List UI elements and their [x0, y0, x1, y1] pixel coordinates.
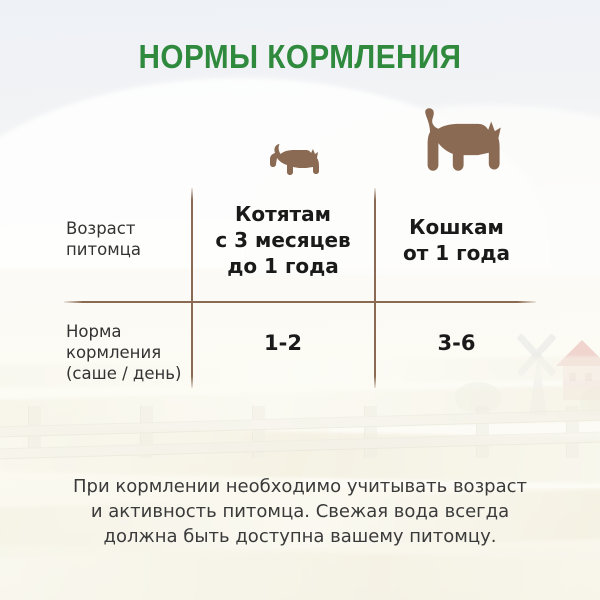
table-column-divider: [374, 188, 376, 388]
table-header-kitten: Котятам с 3 месяцев до 1 года: [194, 201, 372, 279]
header-line: Кошкам: [377, 214, 536, 240]
fence-post: [140, 406, 153, 458]
header-line: от 1 года: [377, 240, 536, 266]
adult-cat-silhouette-icon: [412, 107, 502, 184]
page-title: НОРМЫ КОРМЛЕНИЯ: [30, 38, 570, 76]
feeding-norms-poster: НОРМЫ КОРМЛЕНИЯ Возраст питомца Котятам …: [0, 0, 600, 600]
fence-post: [566, 406, 579, 458]
kitten-silhouette-icon: [263, 143, 321, 183]
row-label-line: питомца: [66, 239, 186, 260]
header-line: до 1 года: [194, 253, 372, 279]
fence-post: [476, 406, 489, 458]
fence-icon: [0, 404, 600, 468]
row-label-line: Норма: [66, 321, 188, 342]
row-label-line: (саше / день): [66, 363, 188, 384]
house-window: [585, 373, 592, 381]
table-row-label-portion: Норма кормления (саше / день): [66, 321, 188, 384]
table-header-adult: Кошкам от 1 года: [377, 214, 536, 266]
fence-post: [364, 406, 377, 458]
footer-line: должна быть доступна вашему питомцу.: [60, 524, 540, 549]
row-label-line: кормления: [66, 342, 188, 363]
fence-post: [252, 406, 265, 458]
field-band: [0, 383, 600, 436]
table-row-divider: [64, 301, 536, 303]
footer-note: При кормлении необходимо учитывать возра…: [60, 474, 540, 549]
footer-line: и активность питомца. Свежая вода всегда: [60, 499, 540, 524]
fence-rail: [0, 432, 600, 460]
field-band: [0, 543, 600, 600]
footer-line: При кормлении необходимо учитывать возра…: [60, 474, 540, 499]
table-cell-kitten-portion: 1-2: [194, 331, 372, 355]
house-window: [569, 373, 576, 381]
header-line: с 3 месяцев: [194, 227, 372, 253]
table-row-label-age: Возраст питомца: [66, 218, 186, 260]
row-label-line: Возраст: [66, 218, 186, 239]
fence-rail: [0, 410, 600, 438]
header-line: Котятам: [194, 201, 372, 227]
tree-icon: [580, 386, 600, 416]
table-column-divider: [191, 188, 193, 388]
feeding-table: Возраст питомца Котятам с 3 месяцев до 1…: [64, 188, 536, 388]
table-cell-adult-portion: 3-6: [377, 331, 536, 355]
house-body: [563, 366, 600, 400]
house-roof: [556, 340, 600, 366]
fence-post: [28, 406, 41, 458]
